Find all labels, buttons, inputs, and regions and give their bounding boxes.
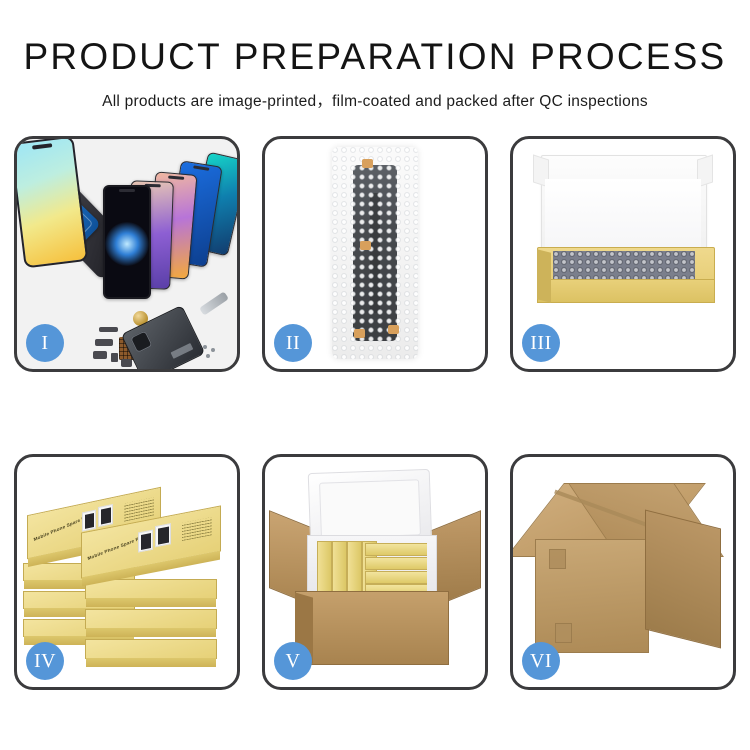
process-step-2: II [262, 136, 488, 372]
step-badge-1: I [26, 324, 64, 362]
bubble-wrap-bag-icon [332, 147, 418, 359]
small-part-strip-icon [99, 327, 118, 332]
bracket-part-icon [95, 339, 113, 346]
carton-right-face-icon [645, 510, 721, 649]
page-title: PRODUCT PREPARATION PROCESS [0, 38, 750, 75]
process-step-6: VI [510, 454, 736, 690]
step-badge-3: III [522, 324, 560, 362]
screws-group-icon [203, 345, 221, 359]
box-stack-group: Mobile Phone Spare Parts Mobile Phone Sp… [23, 475, 231, 671]
stacked-box [85, 609, 217, 629]
tape-tab-mid-icon [360, 241, 371, 250]
tweezers-icon [199, 291, 229, 315]
process-step-3: III [510, 136, 736, 372]
process-step-4: Mobile Phone Spare Parts Mobile Phone Sp… [14, 454, 240, 690]
phone-fan-group [101, 151, 240, 276]
speaker-part-icon [121, 359, 132, 367]
step-badge-4: IV [26, 642, 64, 680]
carton-tape-upper-icon [549, 549, 566, 569]
process-step-grid: I II [14, 136, 736, 690]
step-badge-5: V [274, 642, 312, 680]
yellow-box-side-icon [537, 249, 551, 302]
camera-part-icon [111, 353, 118, 362]
stacked-box [85, 579, 217, 599]
phone-large-display-icon [14, 136, 88, 268]
process-step-5: V [262, 454, 488, 690]
step-badge-2: II [274, 324, 312, 362]
phone-screen-assembly-icon [103, 185, 151, 299]
process-step-1: I [14, 136, 240, 372]
page-subtitle: All products are image-printed，film-coat… [0, 89, 750, 111]
tape-tab-top-icon [362, 159, 373, 168]
carton-tape-lower-icon [555, 623, 572, 643]
product-preparation-infographic: PRODUCT PREPARATION PROCESS All products… [0, 0, 750, 750]
packed-boxes-group [315, 541, 427, 595]
tape-tab-left-icon [354, 329, 365, 338]
yellow-box-front-icon [537, 279, 715, 303]
stacked-box [85, 639, 217, 659]
tape-tab-right-icon [388, 325, 399, 334]
step-badge-6: VI [522, 642, 560, 680]
header: PRODUCT PREPARATION PROCESS All products… [0, 0, 750, 111]
carton-body-icon [295, 591, 449, 665]
button-part-icon [93, 351, 107, 359]
